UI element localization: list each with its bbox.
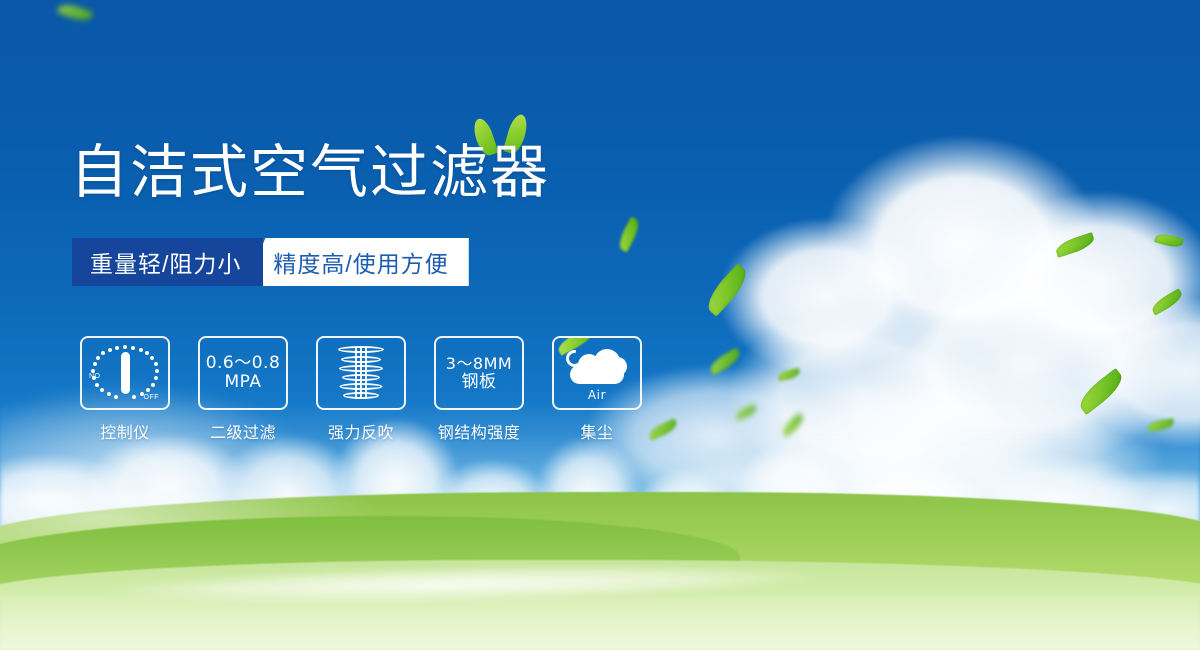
floating-leaf	[707, 347, 743, 375]
floating-leaf	[702, 263, 753, 317]
cloud-base	[570, 365, 624, 384]
product-banner: 自洁式空气过滤器 重量轻/阻力小 精度高/使用方便	[0, 0, 1200, 650]
feature-label: 强力反吹	[328, 419, 394, 443]
floating-leaf	[777, 368, 800, 381]
feature-item-filtration[interactable]: 0.6～0.8 MPA 二级过滤	[196, 336, 290, 443]
feature-label: 钢结构强度	[438, 419, 521, 443]
steel-value-line2: 钢板	[462, 373, 497, 392]
subtitle-left-segment: 重量轻/阻力小	[72, 238, 263, 286]
feature-icon-box: Air	[552, 336, 642, 410]
steel-value-line1: 3～8MM	[446, 354, 512, 373]
page-title: 自洁式空气过滤器	[70, 143, 550, 201]
gauge-icon: NO OFF	[89, 343, 161, 403]
air-caption: Air	[588, 388, 606, 402]
feature-label: 控制仪	[100, 419, 150, 443]
gauge-label-off: OFF	[144, 394, 160, 401]
floating-leaf	[734, 404, 758, 421]
subtitle-bar: 重量轻/阻力小 精度高/使用方便	[72, 238, 469, 286]
feature-list: NO OFF 控制仪 0.6～0.8 MPA 二级过滤	[78, 336, 644, 443]
floating-leaf	[780, 413, 806, 438]
feature-icon-box: 3～8MM 钢板	[434, 336, 524, 410]
floating-leaf	[647, 418, 679, 440]
floating-leaf	[1154, 231, 1184, 249]
feature-item-steel[interactable]: 3～8MM 钢板 钢结构强度	[432, 336, 526, 443]
feature-icon-box: 0.6～0.8 MPA	[198, 336, 288, 410]
air-cloud-icon	[564, 344, 630, 390]
cloud-large-right	[640, 120, 1200, 540]
feature-item-dust-collection[interactable]: Air 集尘	[550, 336, 644, 443]
blowback-icon	[333, 344, 389, 402]
feature-item-blowback[interactable]: 强力反吹	[314, 336, 408, 443]
floating-leaf	[1054, 232, 1096, 258]
gauge-label-on: NO	[89, 373, 101, 380]
feature-label: 集尘	[580, 419, 613, 443]
floating-leaf	[1147, 418, 1174, 432]
feature-icon-box	[316, 336, 406, 410]
gauge-needle	[121, 352, 130, 394]
feature-item-controller[interactable]: NO OFF 控制仪	[78, 336, 172, 443]
floating-leaf	[1075, 368, 1128, 415]
floating-leaf	[615, 216, 642, 252]
feature-icon-box: NO OFF	[80, 336, 170, 410]
pressure-value-line2: MPA	[225, 373, 262, 392]
floating-leaf	[1149, 288, 1184, 315]
grass-foreground-sheen	[0, 596, 1200, 650]
subtitle-right-segment: 精度高/使用方便	[245, 238, 468, 286]
floating-leaf	[57, 1, 93, 25]
feature-label: 二级过滤	[210, 419, 276, 443]
pressure-value-line1: 0.6～0.8	[206, 354, 281, 373]
